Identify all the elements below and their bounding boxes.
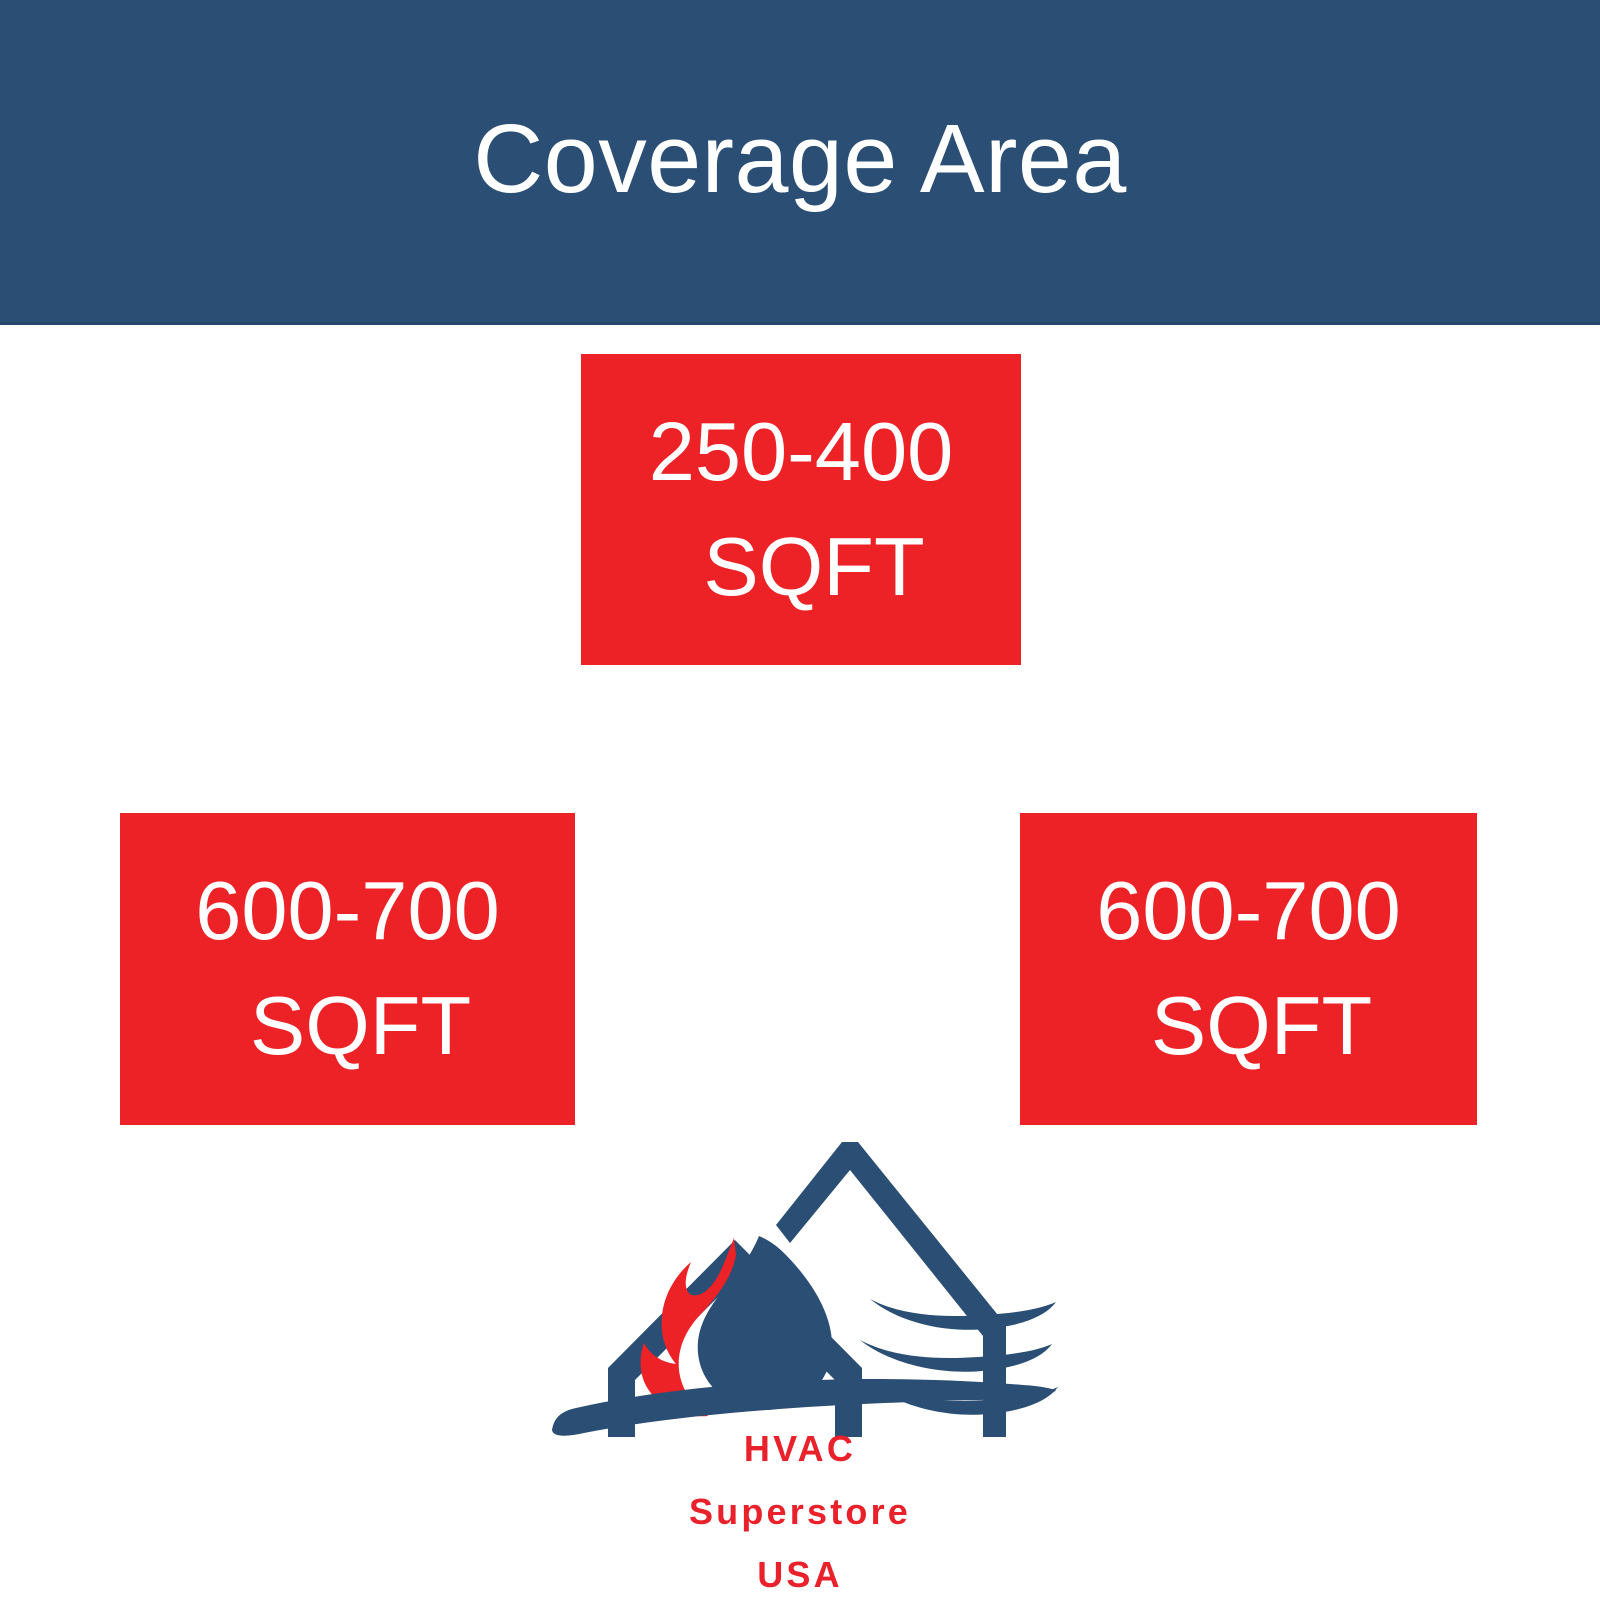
coverage-box-left: 600-700 SQFT [120,813,575,1125]
hvac-house-flame-droplet-air-logo [540,1112,1060,1437]
brand-logo: HVAC Superstore USA [540,1112,1060,1600]
coverage-unit-label: SQFT [677,510,924,625]
brand-line-3: USA [540,1543,1060,1606]
coverage-range-value: 600-700 [1096,854,1401,969]
brand-wordmark: HVAC Superstore USA [540,1417,1060,1606]
coverage-box-right: 600-700 SQFT [1020,813,1477,1125]
coverage-area-infographic: Coverage Area 250-400 SQFT 600-700 SQFT … [0,0,1600,1600]
brand-line-1: HVAC [540,1417,1060,1480]
page-title: Coverage Area [0,108,1600,210]
brand-line-2: Superstore [540,1480,1060,1543]
header-band: Coverage Area [0,0,1600,325]
coverage-unit-label: SQFT [1125,969,1372,1084]
coverage-unit-label: SQFT [224,969,471,1084]
coverage-box-top: 250-400 SQFT [581,354,1021,665]
airflow-line-middle [860,1340,1052,1372]
coverage-range-value: 600-700 [195,854,500,969]
coverage-range-value: 250-400 [649,395,954,510]
